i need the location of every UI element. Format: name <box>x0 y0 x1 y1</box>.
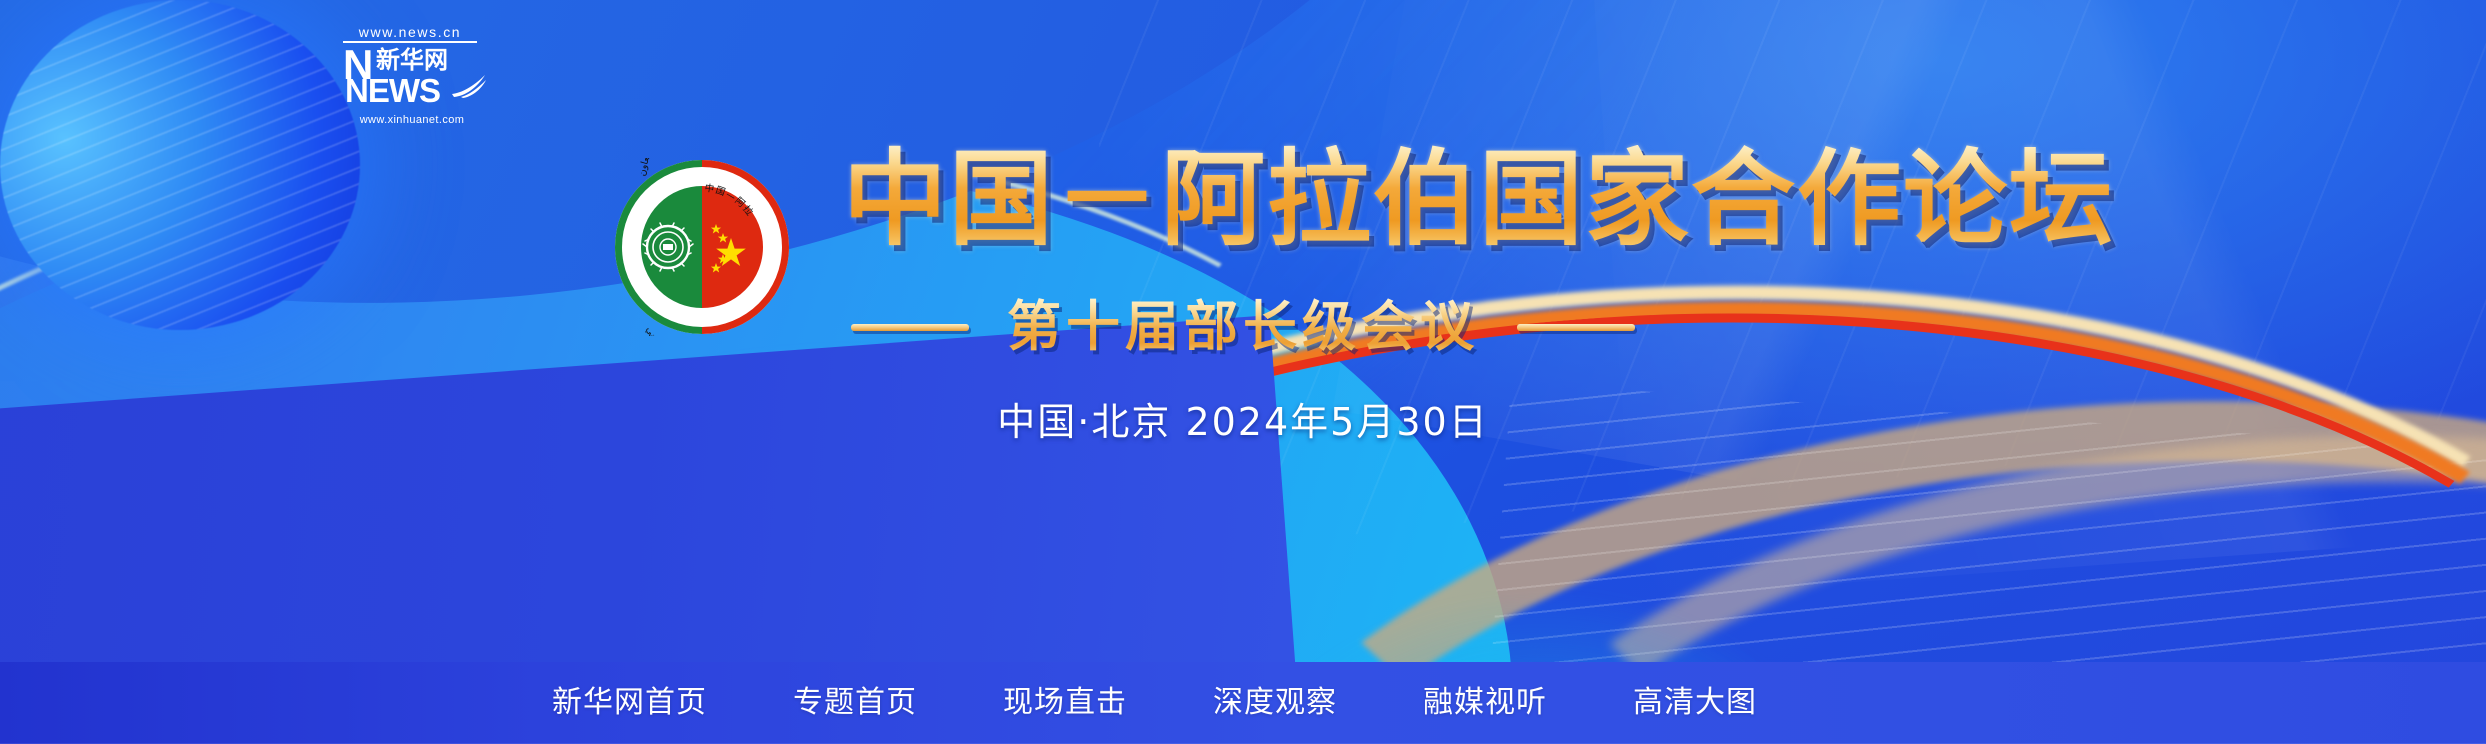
page-subtitle: 第十届部长级会议 <box>1007 296 1479 358</box>
nav-item-xinhua-home[interactable]: 新华网首页 <box>552 680 707 726</box>
place-and-date: 中国·北京 2024年5月30日 <box>0 398 2486 446</box>
logo-news-word: NEWS <box>345 76 440 106</box>
nav-item-list: 新华网首页专题首页现场直击深度观察融媒视听高清大图 <box>552 680 1757 726</box>
subtitle-row: 第十届部长级会议 <box>0 296 2486 358</box>
nav-item-hd-photos[interactable]: 高清大图 <box>1633 680 1757 726</box>
upper-wave-overlay <box>0 0 1775 744</box>
nav-item-topic-home[interactable]: 专题首页 <box>793 680 917 726</box>
main-navigation: 新华网首页专题首页现场直击深度观察融媒视听高清大图 <box>0 662 2486 744</box>
rule-right-icon <box>1517 324 1635 331</box>
event-banner: www.news.cn N 新华网 NEWS www.xinhuanet.com <box>0 0 2486 744</box>
cyan-curve-highlight <box>0 0 1612 744</box>
nav-item-live-coverage[interactable]: 现场直击 <box>1003 680 1127 726</box>
logo-chinese-name: 新华网 <box>376 48 448 72</box>
rule-left-icon <box>851 324 969 331</box>
nav-item-in-depth[interactable]: 深度观察 <box>1213 680 1337 726</box>
glowing-orb <box>0 0 360 330</box>
brush-swoosh-icon <box>451 74 487 98</box>
logo-url-bottom: www.xinhuanet.com <box>343 114 481 126</box>
page-title: 中国－阿拉伯国家合作论坛 <box>843 145 2115 253</box>
diagonal-streaks <box>1078 0 2486 557</box>
logo-wordmark: N 新华网 NEWS <box>343 46 483 108</box>
nav-item-media-av[interactable]: 融媒视听 <box>1423 680 1547 726</box>
xinhuanet-logo[interactable]: www.news.cn N 新华网 NEWS www.xinhuanet.com <box>343 24 483 130</box>
light-streak-a <box>1333 0 2420 580</box>
cyan-sweep-curve <box>0 21 1605 744</box>
